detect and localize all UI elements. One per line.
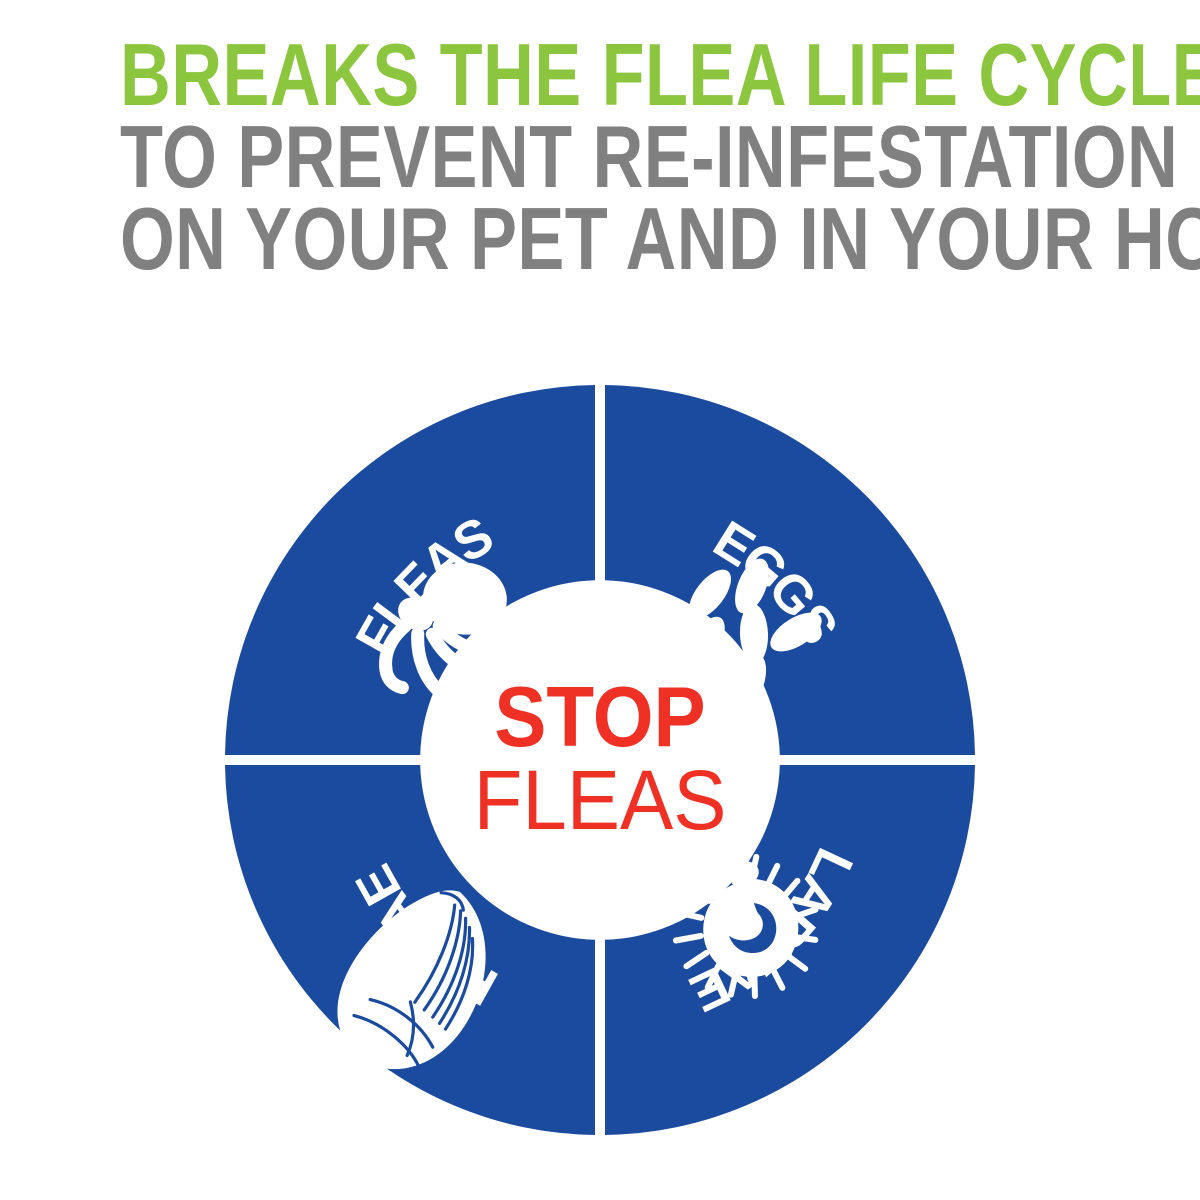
flea-life-cycle-infographic: BREAKS THE FLEA LIFE CYCLE TO PREVENT RE… [0,0,1200,1200]
headline-line-1: BREAKS THE FLEA LIFE CYCLE [120,34,1080,116]
life-cycle-wheel: FLEAS EGGS LARVAE PUPAE [210,370,990,1150]
headline-line-3: ON YOUR PET AND IN YOUR HOME [120,198,1080,280]
headline-line-2: TO PREVENT RE-INFESTATION [120,116,1080,198]
headline-block: BREAKS THE FLEA LIFE CYCLE TO PREVENT RE… [0,34,1200,279]
